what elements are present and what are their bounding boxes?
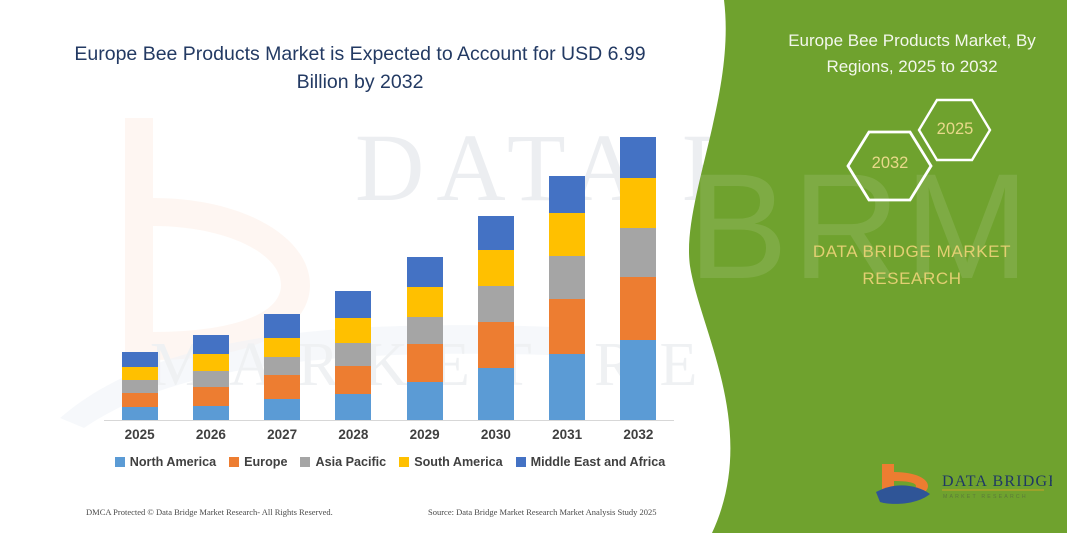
- legend-swatch-icon: [300, 457, 310, 467]
- bar-2026: [193, 335, 229, 420]
- x-axis-label-2032: 2032: [608, 427, 668, 442]
- legend-item-south-america[interactable]: South America: [399, 455, 502, 469]
- footer-source: Source: Data Bridge Market Research Mark…: [428, 507, 657, 517]
- bar-segment-north-america-2030: [478, 368, 514, 420]
- legend-item-europe[interactable]: Europe: [229, 455, 287, 469]
- bar-segment-asia-pacific-2027: [264, 357, 300, 375]
- legend-swatch-icon: [115, 457, 125, 467]
- data-bridge-logo-icon: DATA BRIDGE MARKET RESEARCH: [872, 460, 1052, 512]
- footer-copyright: DMCA Protected © Data Bridge Market Rese…: [86, 507, 333, 517]
- bar-segment-europe-2028: [335, 366, 371, 394]
- x-axis-labels: 20252026202720282029203020312032: [104, 427, 674, 449]
- hexagon-year-2025: 2025: [925, 120, 985, 139]
- brand-line-2: RESEARCH: [862, 269, 961, 288]
- bar-2031: [549, 176, 585, 420]
- x-axis-label-2027: 2027: [252, 427, 312, 442]
- bar-segment-europe-2029: [407, 344, 443, 382]
- bar-segment-asia-pacific-2026: [193, 371, 229, 387]
- legend-swatch-icon: [229, 457, 239, 467]
- x-axis-label-2030: 2030: [466, 427, 526, 442]
- hexagon-year-2032: 2032: [859, 154, 921, 173]
- page-title: Europe Bee Products Market is Expected t…: [60, 40, 660, 96]
- bar-segment-europe-2030: [478, 322, 514, 368]
- bar-segment-middle-east-and-africa-2030: [478, 216, 514, 250]
- region-chart-title: Europe Bee Products Market, By Regions, …: [767, 28, 1057, 80]
- bar-segment-north-america-2025: [122, 407, 158, 420]
- hexagon-outlines-icon: [817, 92, 1017, 202]
- legend-swatch-icon: [516, 457, 526, 467]
- bar-segment-middle-east-and-africa-2026: [193, 335, 229, 354]
- bar-segment-south-america-2032: [620, 178, 656, 228]
- bar-segment-north-america-2026: [193, 406, 229, 420]
- bar-segment-north-america-2032: [620, 340, 656, 420]
- x-axis-label-2028: 2028: [323, 427, 383, 442]
- bar-segment-south-america-2027: [264, 338, 300, 357]
- right-info-panel: Europe Bee Products Market, By Regions, …: [757, 0, 1067, 533]
- bar-segment-south-america-2026: [193, 354, 229, 371]
- x-axis-label-2025: 2025: [110, 427, 170, 442]
- x-axis-label-2031: 2031: [537, 427, 597, 442]
- bar-2030: [478, 216, 514, 420]
- bar-segment-middle-east-and-africa-2027: [264, 314, 300, 338]
- legend-label: South America: [414, 455, 502, 469]
- bar-segment-asia-pacific-2028: [335, 343, 371, 366]
- chart-legend: North AmericaEuropeAsia PacificSouth Ame…: [104, 455, 676, 469]
- bar-segment-europe-2027: [264, 375, 300, 399]
- bar-2025: [122, 352, 158, 420]
- infographic-canvas: DATA BRIDGE MARKET RESEARCH Europe Bee P…: [0, 0, 1067, 533]
- data-bridge-logo: DATA BRIDGE MARKET RESEARCH: [872, 460, 1052, 512]
- x-axis-label-2029: 2029: [395, 427, 455, 442]
- hexagon-year-group: 2025 2032: [817, 92, 1017, 202]
- legend-swatch-icon: [399, 457, 409, 467]
- bar-2028: [335, 291, 371, 420]
- bar-2029: [407, 257, 443, 420]
- bar-segment-europe-2026: [193, 387, 229, 406]
- bar-segment-south-america-2031: [549, 213, 585, 256]
- footer: DMCA Protected © Data Bridge Market Rese…: [0, 507, 700, 527]
- legend-item-middle-east-and-africa[interactable]: Middle East and Africa: [516, 455, 666, 469]
- legend-label: Asia Pacific: [315, 455, 386, 469]
- bar-segment-south-america-2029: [407, 287, 443, 317]
- stacked-bar-chart: [104, 120, 674, 420]
- bar-segment-middle-east-and-africa-2029: [407, 257, 443, 287]
- bar-segment-europe-2031: [549, 299, 585, 354]
- logo-subtext: MARKET RESEARCH: [943, 494, 1028, 500]
- bar-segment-asia-pacific-2032: [620, 228, 656, 277]
- legend-item-north-america[interactable]: North America: [115, 455, 216, 469]
- bar-segment-middle-east-and-africa-2025: [122, 352, 158, 367]
- bar-segment-north-america-2029: [407, 382, 443, 420]
- bar-segment-south-america-2028: [335, 318, 371, 343]
- x-axis-label-2026: 2026: [181, 427, 241, 442]
- bar-2032: [620, 137, 656, 420]
- legend-label: Europe: [244, 455, 287, 469]
- bar-segment-asia-pacific-2030: [478, 286, 514, 322]
- brand-name: DATA BRIDGE MARKET RESEARCH: [777, 238, 1047, 292]
- legend-label: North America: [130, 455, 216, 469]
- legend-label: Middle East and Africa: [531, 455, 666, 469]
- bar-segment-asia-pacific-2029: [407, 317, 443, 344]
- bar-segment-south-america-2025: [122, 367, 158, 380]
- bar-segment-middle-east-and-africa-2031: [549, 176, 585, 213]
- bar-segment-europe-2025: [122, 393, 158, 407]
- bar-segment-middle-east-and-africa-2032: [620, 137, 656, 178]
- logo-wordmark: DATA BRIDGE: [942, 473, 1052, 490]
- bar-segment-south-america-2030: [478, 250, 514, 286]
- bar-segment-north-america-2027: [264, 399, 300, 420]
- bar-segment-asia-pacific-2031: [549, 256, 585, 299]
- bar-segment-asia-pacific-2025: [122, 380, 158, 393]
- bar-segment-north-america-2028: [335, 394, 371, 420]
- bar-segment-europe-2032: [620, 277, 656, 340]
- x-axis-line: [104, 420, 674, 421]
- bar-segment-north-america-2031: [549, 354, 585, 420]
- bar-2027: [264, 314, 300, 420]
- bar-segment-middle-east-and-africa-2028: [335, 291, 371, 318]
- legend-item-asia-pacific[interactable]: Asia Pacific: [300, 455, 386, 469]
- left-chart-panel: DATA BRIDGE MARKET RESEARCH Europe Bee P…: [0, 0, 715, 533]
- brand-line-1: DATA BRIDGE MARKET: [813, 242, 1011, 261]
